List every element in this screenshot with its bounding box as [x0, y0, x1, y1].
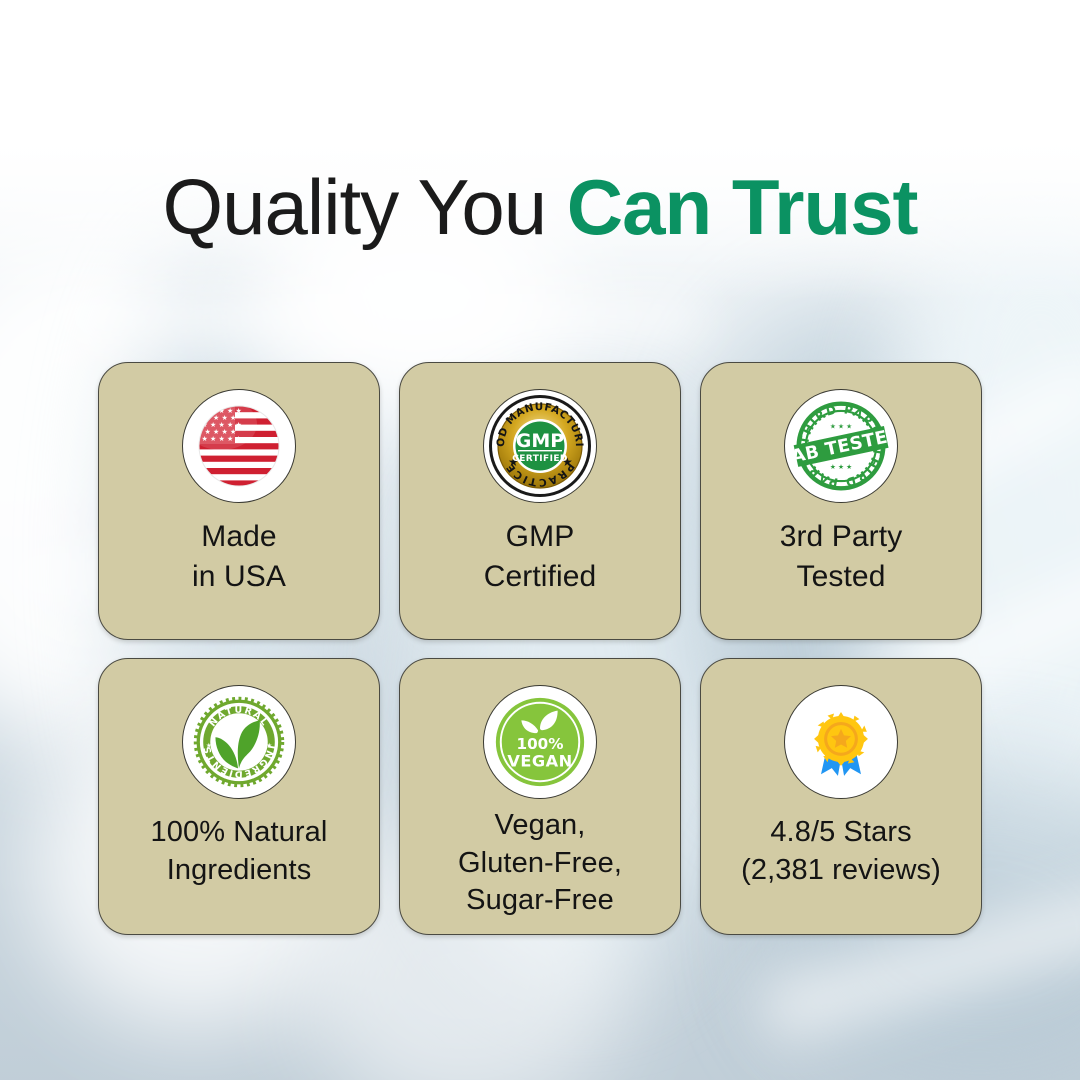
card-label-line: Certified — [400, 557, 680, 597]
card-label-line: Gluten-Free, — [400, 845, 680, 883]
trust-card-vegan-gluten-sugar-free[interactable]: 100% VEGAN Vegan, Gluten-Free, Sugar-Fre… — [399, 658, 681, 935]
trust-card-third-party-tested[interactable]: THIRD PARTY THIRD PARTY ★ ★ ★ ★ ★ ★ LAB … — [700, 362, 982, 640]
badge-circle: 100% VEGAN — [483, 685, 597, 799]
trust-card-gmp-certified[interactable]: GOOD MANUFACTURING PRACTICE ★ ★ GMP CERT… — [399, 362, 681, 640]
trust-card-natural-ingredients[interactable]: NATURAL INGREDIENTS ★ ★ 100% N — [98, 658, 380, 935]
background-blur-streak — [60, 300, 700, 334]
page-title: Quality You Can Trust — [0, 168, 1080, 246]
card-label-line: in USA — [99, 557, 379, 597]
card-label-line: Sugar-Free — [400, 882, 680, 920]
card-label-line: Ingredients — [99, 851, 379, 889]
svg-text:★ ★ ★: ★ ★ ★ — [830, 423, 852, 431]
card-label-line: 4.8/5 Stars — [701, 813, 981, 851]
badge-circle: ★ ★ ★ ★ ★ ★ ★ ★ ★ ★ ★ ★ ★ ★ ★ ★ ★ ★ ★ ★ … — [182, 389, 296, 503]
trust-card-made-in-usa[interactable]: ★ ★ ★ ★ ★ ★ ★ ★ ★ ★ ★ ★ ★ ★ ★ ★ ★ ★ ★ ★ … — [98, 362, 380, 640]
card-label-line: Vegan, — [400, 807, 680, 845]
page-title-plain: Quality You — [162, 163, 566, 251]
card-label: Vegan, Gluten-Free, Sugar-Free — [400, 807, 680, 920]
page-title-accent: Can Trust — [567, 163, 918, 251]
trust-badge-grid: ★ ★ ★ ★ ★ ★ ★ ★ ★ ★ ★ ★ ★ ★ ★ ★ ★ ★ ★ ★ … — [98, 362, 984, 935]
svg-text:★: ★ — [266, 742, 272, 750]
svg-text:CERTIFIED: CERTIFIED — [512, 454, 567, 464]
svg-text:★ ★ ★: ★ ★ ★ — [830, 463, 852, 471]
svg-text:★: ★ — [206, 742, 212, 750]
background-top-whiteout — [0, 0, 1080, 300]
badge-circle: GOOD MANUFACTURING PRACTICE ★ ★ GMP CERT… — [483, 389, 597, 503]
badge-circle: NATURAL INGREDIENTS ★ ★ — [182, 685, 296, 799]
gmp-certified-seal-icon: GOOD MANUFACTURING PRACTICE ★ ★ GMP CERT… — [488, 394, 592, 498]
svg-text:VEGAN: VEGAN — [507, 752, 572, 771]
card-label-line: Made — [99, 517, 379, 557]
card-label-line: Tested — [701, 557, 981, 597]
card-label: 4.8/5 Stars (2,381 reviews) — [701, 813, 981, 890]
card-label: GMP Certified — [400, 517, 680, 596]
vegan-leaf-badge-icon: 100% VEGAN — [489, 691, 591, 793]
card-label-line: (2,381 reviews) — [701, 851, 981, 889]
badge-circle: THIRD PARTY THIRD PARTY ★ ★ ★ ★ ★ ★ LAB … — [784, 389, 898, 503]
card-label: Made in USA — [99, 517, 379, 596]
card-label-line: 3rd Party — [701, 517, 981, 557]
third-party-lab-tested-stamp-icon: THIRD PARTY THIRD PARTY ★ ★ ★ ★ ★ ★ LAB … — [791, 396, 891, 496]
card-label-line: GMP — [400, 517, 680, 557]
award-ribbon-icon — [801, 702, 881, 782]
usa-flag-icon: ★ ★ ★ ★ ★ ★ ★ ★ ★ ★ ★ ★ ★ ★ ★ ★ ★ ★ ★ ★ … — [191, 398, 287, 494]
natural-ingredients-leaf-seal-icon: NATURAL INGREDIENTS ★ ★ — [190, 693, 288, 791]
card-label: 3rd Party Tested — [701, 517, 981, 596]
trust-card-customer-rating[interactable]: 4.8/5 Stars (2,381 reviews) — [700, 658, 982, 935]
svg-text:100%: 100% — [517, 735, 564, 753]
trust-badges-panel: Quality You Can Trust — [0, 0, 1080, 1080]
card-label-line: 100% Natural — [99, 813, 379, 851]
card-label: 100% Natural Ingredients — [99, 813, 379, 890]
badge-circle — [784, 685, 898, 799]
svg-text:GMP: GMP — [516, 430, 565, 452]
